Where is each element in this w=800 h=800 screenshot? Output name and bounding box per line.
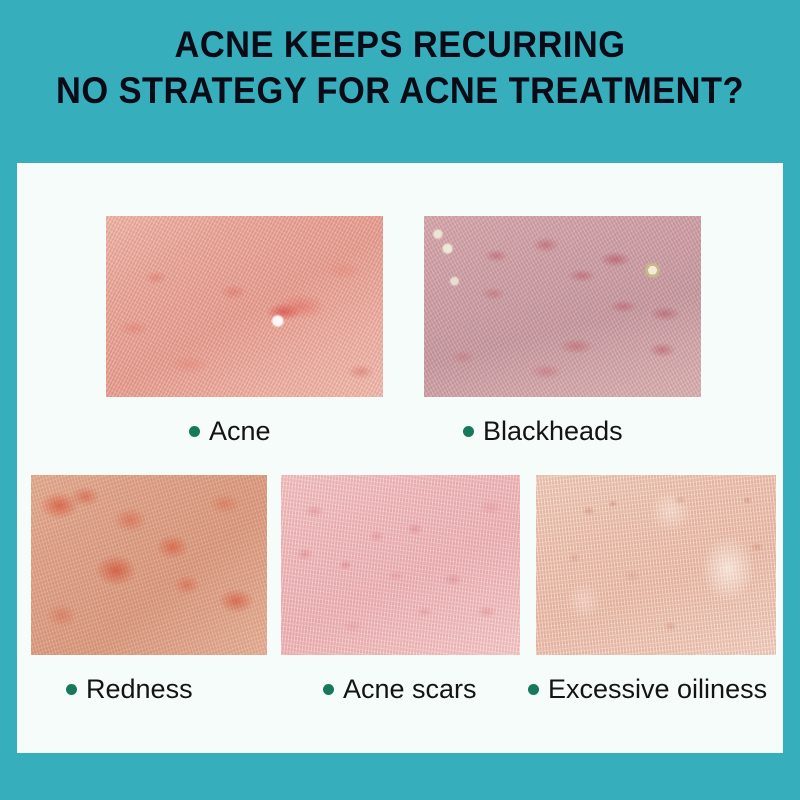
symptom-label-text: Redness — [86, 674, 193, 704]
symptom-label-text: Acne scars — [343, 674, 477, 704]
symptom-image-excessive-oiliness — [536, 475, 776, 655]
skin-texture-acne — [106, 216, 383, 397]
bullet-dot-icon — [66, 684, 77, 695]
skin-texture-blackheads — [424, 216, 701, 397]
symptom-label-text: Blackheads — [483, 416, 623, 446]
skin-photo-acne — [106, 216, 383, 397]
symptom-label-text: Acne — [209, 416, 271, 446]
skin-photo-excessive-oiliness — [536, 475, 776, 655]
content-card: Acne Blackheads Redness — [17, 163, 783, 753]
skin-photo-acne-scars — [281, 475, 520, 655]
bullet-dot-icon — [463, 426, 474, 437]
bullet-dot-icon — [189, 426, 200, 437]
skin-texture-redness — [31, 475, 267, 655]
bullet-dot-icon — [323, 684, 334, 695]
symptom-image-redness — [31, 475, 267, 655]
poster-heading: ACNE KEEPS RECURRING NO STRATEGY FOR ACN… — [0, 22, 800, 114]
skin-texture-acne-scars — [281, 475, 520, 655]
symptom-label-acne: Acne — [189, 416, 271, 446]
symptom-label-redness: Redness — [66, 674, 193, 704]
symptom-label-acne-scars: Acne scars — [323, 674, 477, 704]
skin-photo-redness — [31, 475, 267, 655]
skin-texture-excessive-oiliness — [536, 475, 776, 655]
heading-line-1: ACNE KEEPS RECURRING — [28, 22, 772, 68]
bullet-dot-icon — [528, 684, 539, 695]
heading-line-2: NO STRATEGY FOR ACNE TREATMENT? — [28, 68, 772, 114]
acne-infographic-poster: ACNE KEEPS RECURRING NO STRATEGY FOR ACN… — [0, 0, 800, 800]
symptom-label-excessive-oiliness: Excessive oiliness — [528, 674, 767, 704]
symptom-image-acne-scars — [281, 475, 520, 655]
symptom-label-blackheads: Blackheads — [463, 416, 623, 446]
skin-photo-blackheads — [424, 216, 701, 397]
symptom-image-acne — [106, 216, 383, 397]
symptom-image-blackheads — [424, 216, 701, 397]
symptom-label-text: Excessive oiliness — [548, 674, 767, 704]
